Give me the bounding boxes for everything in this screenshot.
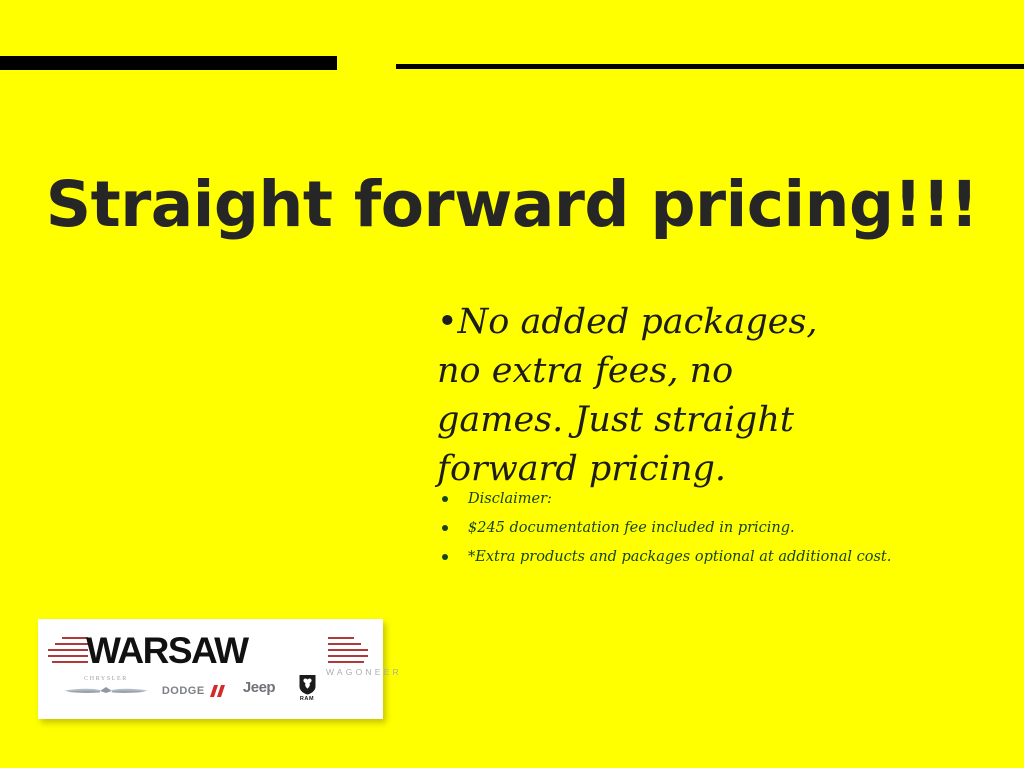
list-item-label: $245 documentation fee included in prici… <box>468 520 795 536</box>
dealer-name-text: WARSAW <box>86 631 248 671</box>
speed-lines-left-icon <box>44 637 88 667</box>
disclaimer-list: Disclaimer: $245 documentation fee inclu… <box>438 491 958 578</box>
brand-jeep: Jeep <box>234 679 284 696</box>
ram-shield-icon <box>298 674 317 695</box>
brand-dodge: DODGE <box>158 682 230 700</box>
chrysler-wordmark: CHRYSLER <box>60 676 152 682</box>
list-item-label: Disclaimer: <box>468 491 552 507</box>
brand-marks-row: CHRYSLER DODGE <box>38 674 383 708</box>
dealer-wordmark-row: WARSAW <box>38 631 383 671</box>
bullet-icon <box>442 525 448 531</box>
wagoneer-wordmark: WAGONEER <box>326 667 402 677</box>
dodge-slashes-icon <box>210 685 226 697</box>
bullet-icon <box>442 554 448 560</box>
dodge-wordmark: DODGE <box>162 685 205 697</box>
list-item: $245 documentation fee included in prici… <box>438 520 958 536</box>
dealer-logo: WARSAW CHRYSLER DODG <box>38 619 383 719</box>
brand-ram: RAM <box>290 674 324 702</box>
header-rule-thick <box>0 56 337 70</box>
jeep-wordmark: Jeep <box>234 679 284 696</box>
header-rule-thin <box>396 64 1024 69</box>
ram-wordmark: RAM <box>290 696 324 702</box>
list-item: Disclaimer: <box>438 491 958 507</box>
slide-body-text: •No added packages, no extra fees, no ga… <box>437 298 867 494</box>
list-item: *Extra products and packages optional at… <box>438 549 958 565</box>
presentation-slide: Straight forward pricing!!! •No added pa… <box>0 0 1024 768</box>
speed-lines-right-icon <box>328 637 372 667</box>
dealer-logo-card: WARSAW CHRYSLER DODG <box>38 619 383 719</box>
list-item-label: *Extra products and packages optional at… <box>468 549 891 565</box>
chrysler-wing-icon <box>60 683 152 696</box>
bullet-icon <box>442 496 448 502</box>
brand-chrysler: CHRYSLER <box>60 676 152 696</box>
slide-title: Straight forward pricing!!! <box>0 166 1024 244</box>
